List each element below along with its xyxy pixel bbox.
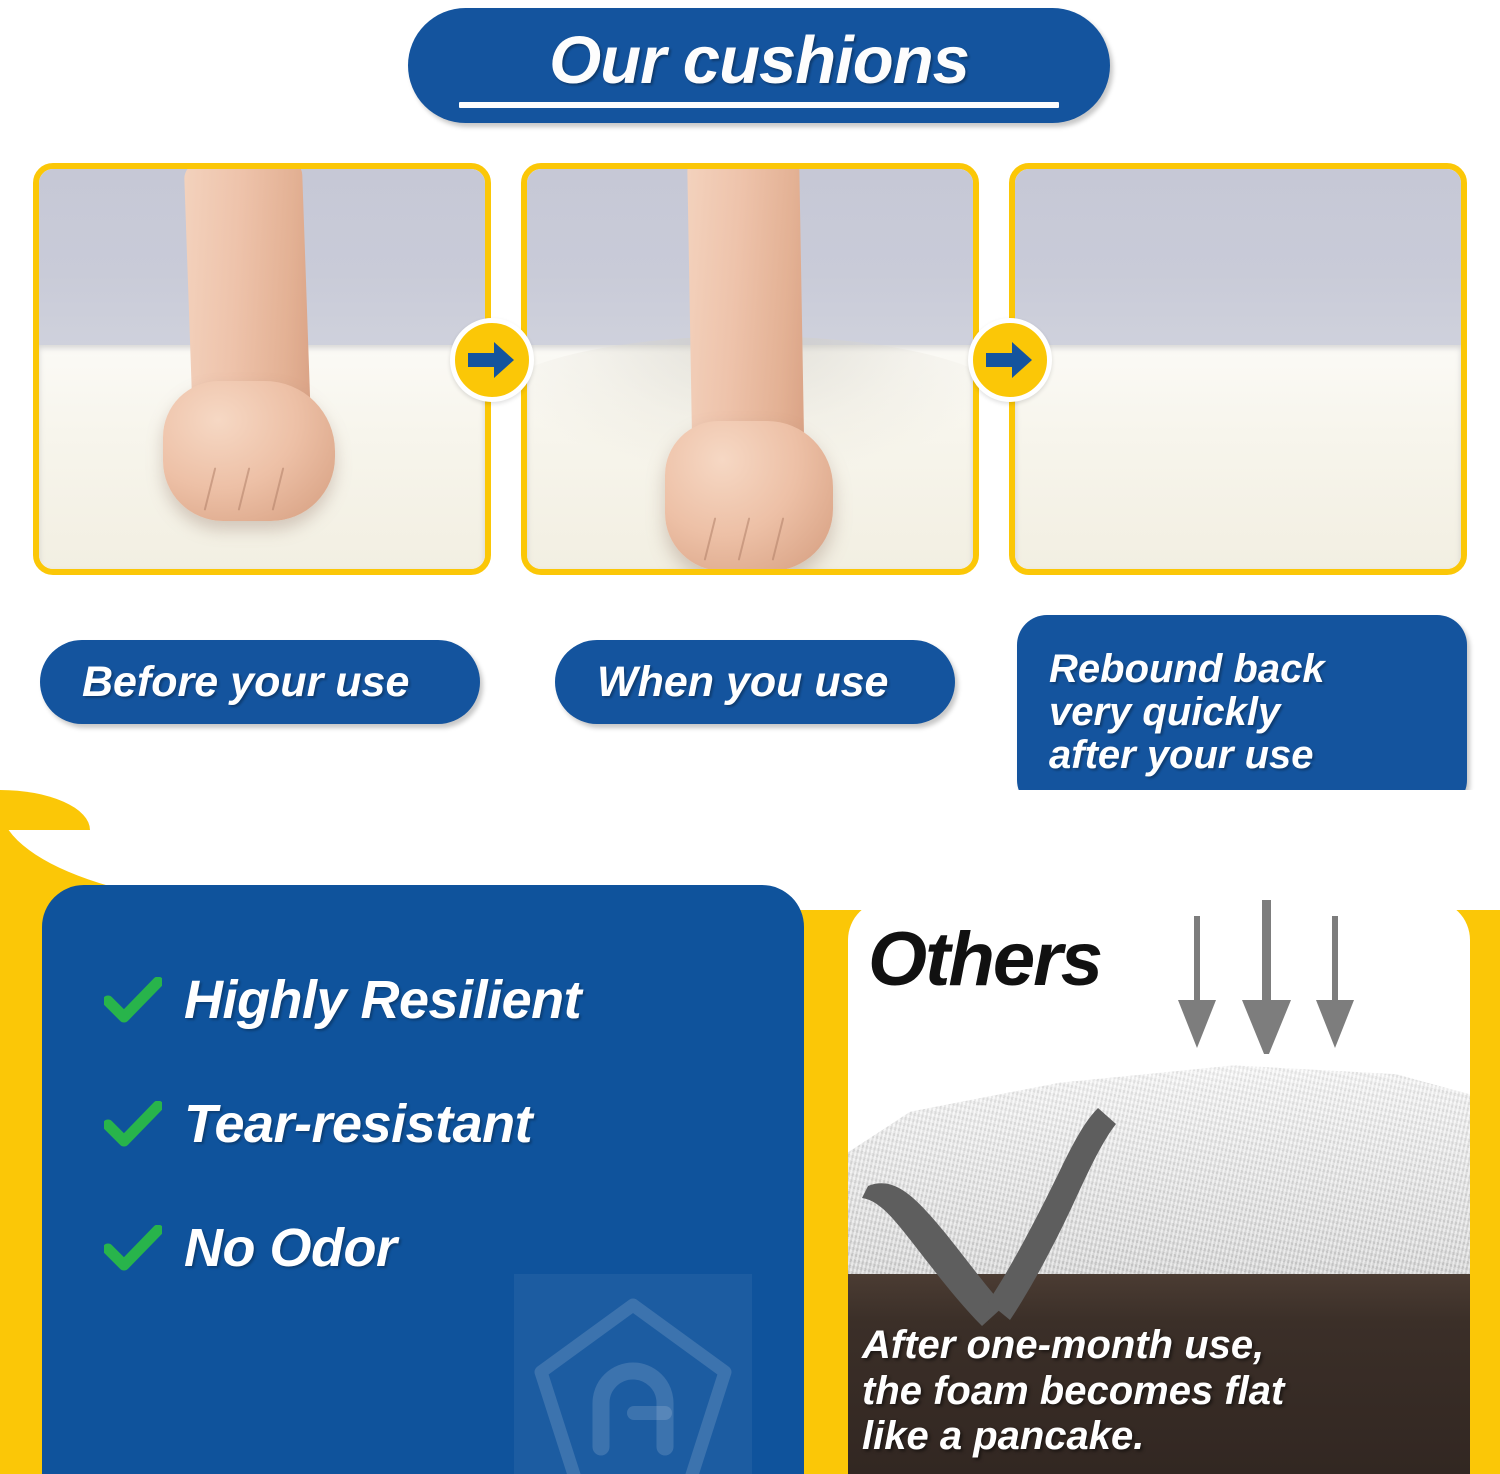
knuckle-line <box>272 467 285 510</box>
step-caption-before: Before your use <box>40 640 480 724</box>
photo-after <box>1015 169 1461 569</box>
pentagon-a-logo-icon <box>514 1274 752 1474</box>
others-caption-line-3: like a pancake. <box>862 1414 1284 1460</box>
product-infographic: Our cushions <box>0 0 1500 1474</box>
feature-item: No Odor <box>104 1217 784 1279</box>
step-photo-before <box>33 163 491 575</box>
knuckle-line <box>204 467 217 510</box>
fist <box>163 381 335 521</box>
knuckle-line <box>238 467 251 510</box>
others-caption: After one-month use, the foam becomes fl… <box>862 1323 1284 1460</box>
our-cushions-section: Our cushions <box>0 0 1500 830</box>
check-icon <box>104 1101 162 1147</box>
photo-background <box>1015 169 1461 345</box>
fist <box>665 421 833 571</box>
others-card: Others <box>848 900 1470 1474</box>
photo-during <box>527 169 973 569</box>
check-icon <box>104 1225 162 1271</box>
step-caption-during: When you use <box>555 640 955 724</box>
page-title: Our cushions <box>549 27 969 94</box>
step-caption-line-1: Rebound back <box>1049 648 1325 691</box>
knuckle-line <box>738 517 751 560</box>
others-title: Others <box>868 916 1101 1003</box>
arrow-right-icon <box>450 318 534 402</box>
arrow-right-icon <box>968 318 1052 402</box>
features-card: Highly Resilient Tear-resistant No Odor <box>42 885 804 1474</box>
page-title-badge: Our cushions <box>408 8 1110 123</box>
check-icon <box>104 977 162 1023</box>
step-caption-line-3: after your use <box>1049 734 1314 777</box>
step-caption-label: When you use <box>597 658 888 707</box>
others-caption-line-2: the foam becomes flat <box>862 1369 1284 1415</box>
knuckle-line <box>704 517 717 560</box>
photo-before <box>39 169 485 569</box>
feature-label: No Odor <box>184 1217 396 1279</box>
step-caption-line-2: very quickly <box>1049 691 1280 734</box>
step-caption-label: Before your use <box>82 658 409 707</box>
step-photo-after <box>1009 163 1467 575</box>
x-cross-brush-icon <box>854 1090 1134 1335</box>
foam-surface-rebounded <box>1015 345 1461 569</box>
step-caption-after: Rebound back very quickly after your use <box>1017 615 1467 810</box>
knuckle-line <box>772 517 785 560</box>
step-photo-during <box>521 163 979 575</box>
feature-item: Tear-resistant <box>104 1093 784 1155</box>
down-arrows-icon <box>1172 900 1362 1059</box>
feature-label: Tear-resistant <box>184 1093 532 1155</box>
section-curve-notch <box>0 790 90 830</box>
title-underline <box>459 102 1059 108</box>
others-caption-line-1: After one-month use, <box>862 1323 1284 1369</box>
feature-label: Highly Resilient <box>184 969 581 1031</box>
feature-item: Highly Resilient <box>104 969 784 1031</box>
